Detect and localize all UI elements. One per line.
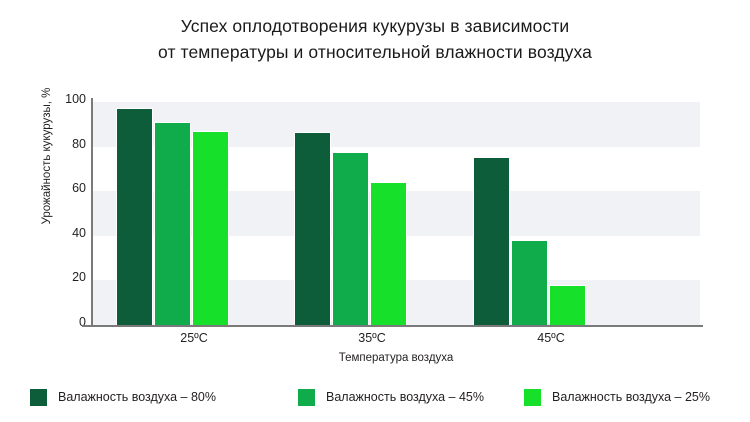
x-tick-label-1: 35ºC [292, 331, 452, 345]
legend-item-label: Валажность воздуха – 80% [58, 390, 216, 404]
y-axis-tick-labels: 100 80 60 40 20 0 [52, 92, 86, 335]
bar-chart: Успех оплодотворения кукурузы в зависимо… [0, 0, 750, 422]
bars-layer [92, 102, 700, 325]
bar [192, 131, 229, 325]
plot-area [92, 102, 700, 325]
x-axis-line [82, 325, 703, 327]
y-tick-label: 40 [52, 226, 86, 240]
chart-title-line-1: Успех оплодотворения кукурузы в зависимо… [0, 13, 750, 39]
bar [473, 157, 510, 325]
legend-item-humidity-25[interactable]: Валажность воздуха – 25% [524, 386, 710, 408]
bar [116, 108, 153, 325]
bar [370, 182, 407, 325]
chart-title: Успех оплодотворения кукурузы в зависимо… [0, 13, 750, 65]
legend-item-humidity-80[interactable]: Валажность воздуха – 80% [30, 386, 216, 408]
y-tick-label: 100 [52, 92, 86, 106]
legend-item-humidity-45[interactable]: Валажность воздуха – 45% [298, 386, 484, 408]
x-axis-tick-labels: 25ºC 35ºC 45ºC [92, 331, 700, 351]
y-axis-line [91, 98, 93, 326]
x-axis-title: Температура воздуха [92, 352, 700, 364]
bar [549, 285, 586, 325]
y-tick-label: 20 [52, 270, 86, 284]
y-tick-label: 80 [52, 137, 86, 151]
y-axis-zero-tick [85, 325, 92, 327]
legend-item-label: Валажность воздуха – 25% [552, 390, 710, 404]
x-tick-label-0: 25ºC [114, 331, 274, 345]
y-tick-label: 0 [52, 315, 86, 329]
legend-swatch-icon [298, 389, 315, 406]
legend-swatch-icon [30, 389, 47, 406]
x-tick-label-2: 45ºC [471, 331, 631, 345]
chart-legend: Валажность воздуха – 80% Валажность возд… [30, 386, 730, 410]
bar [511, 240, 548, 325]
bar [332, 152, 369, 325]
bar [294, 132, 331, 325]
legend-item-label: Валажность воздуха – 45% [326, 390, 484, 404]
bar [154, 122, 191, 325]
y-tick-label: 60 [52, 181, 86, 195]
legend-swatch-icon [524, 389, 541, 406]
chart-title-line-2: от температуры и относительной влажности… [0, 39, 750, 65]
